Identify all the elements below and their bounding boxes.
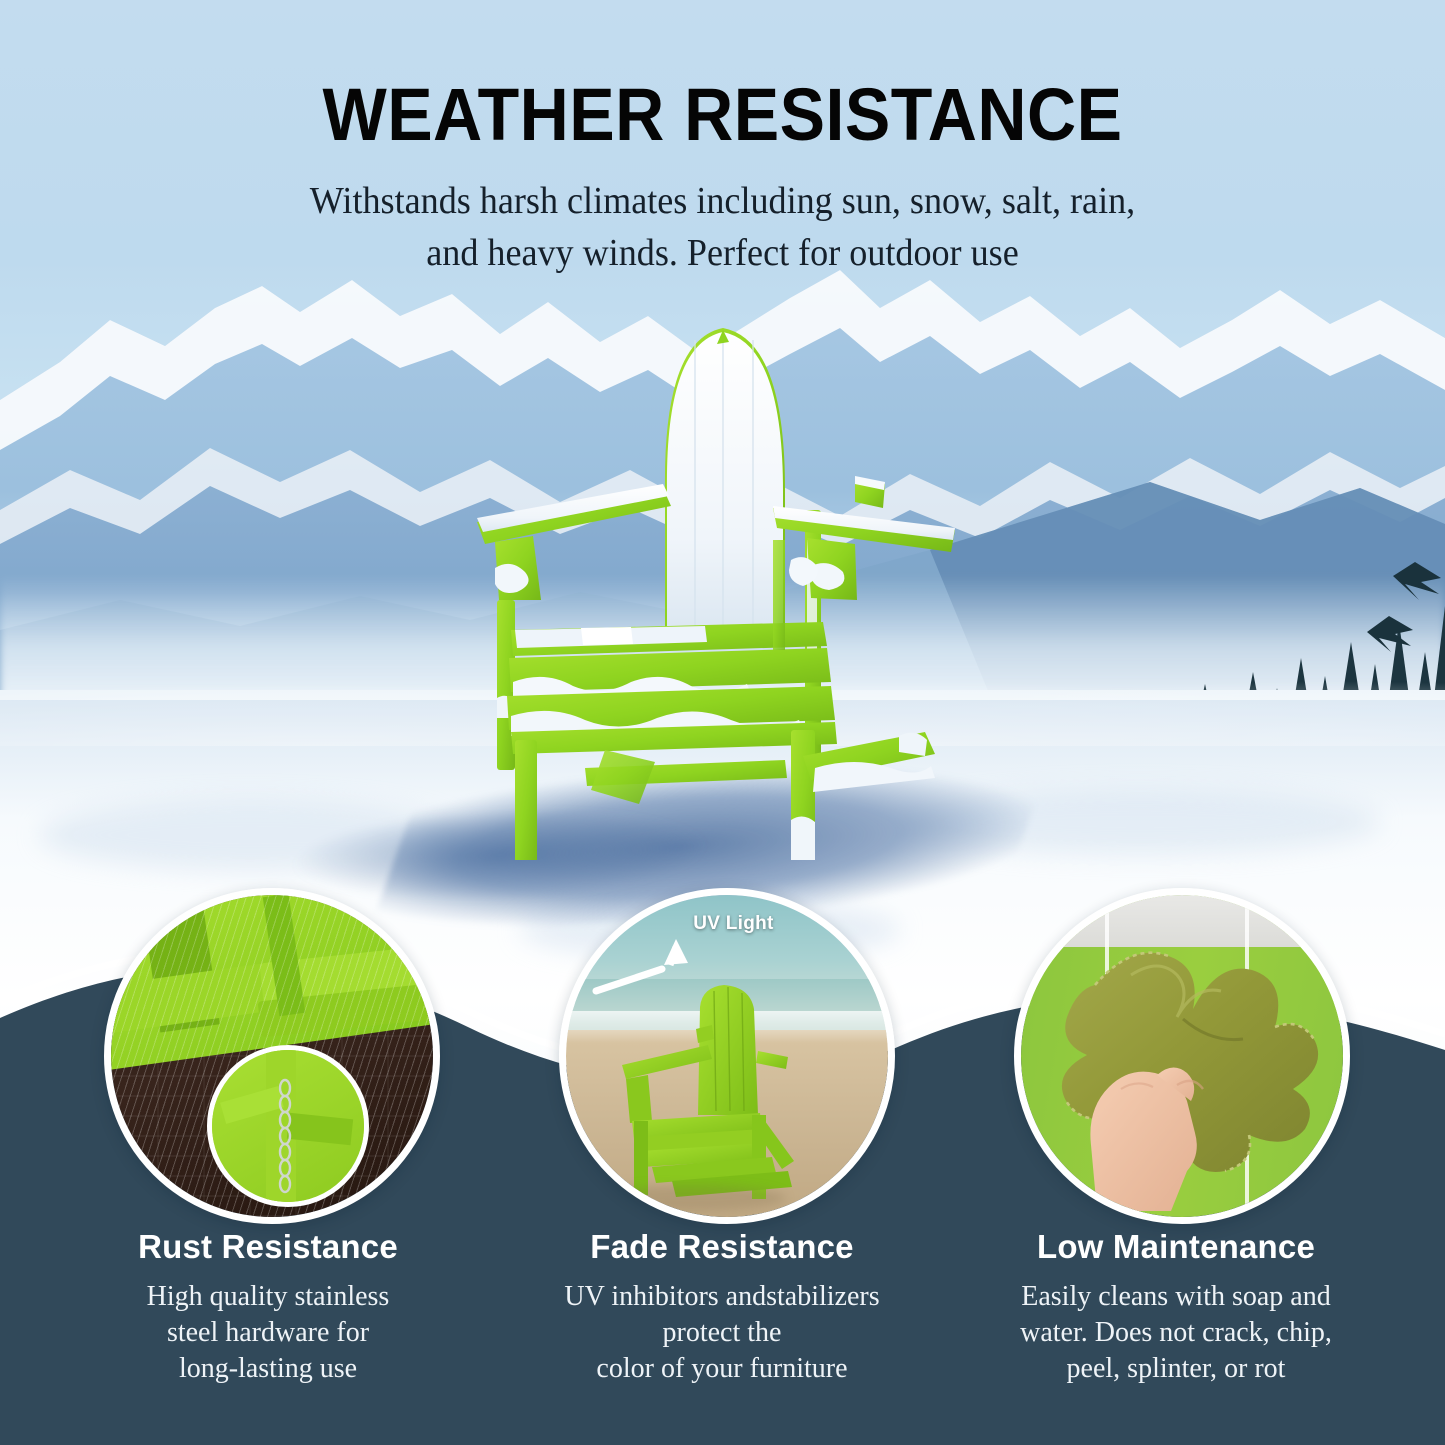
feature-desc-line: steel hardware for [58, 1315, 478, 1351]
feature-desc-line: protect the [512, 1315, 932, 1351]
feature-desc-line: Easily cleans with soap and [966, 1279, 1386, 1315]
hardware-chain-inset-image [207, 1045, 369, 1207]
feature-block-fade-resistance: Fade Resistance UV inhibitors andstabili… [512, 1228, 932, 1386]
page-subtitle: Withstands harsh climates including sun,… [0, 175, 1445, 280]
lime-beach-chair [612, 981, 842, 1211]
subtitle-line-1: Withstands harsh climates including sun,… [36, 175, 1409, 227]
feature-desc-line: water. Does not crack, chip, [966, 1315, 1386, 1351]
subtitle-line-2: and heavy winds. Perfect for outdoor use [36, 227, 1409, 279]
uv-light-label: UV Light [693, 913, 774, 935]
feature-description: High quality stainless steel hardware fo… [58, 1279, 478, 1386]
feature-desc-line: UV inhibitors andstabilizers [512, 1279, 932, 1315]
hand [1061, 1005, 1241, 1215]
weather-resistance-infographic: WEATHER RESISTANCE Withstands harsh clim… [0, 0, 1445, 1445]
feature-desc-line: High quality stainless [58, 1279, 478, 1315]
feature-desc-line: peel, splinter, or rot [966, 1351, 1386, 1387]
feature-block-low-maintenance: Low Maintenance Easily cleans with soap … [966, 1228, 1386, 1386]
feature-title: Fade Resistance [512, 1228, 932, 1266]
page-title: WEATHER RESISTANCE [58, 72, 1387, 157]
feature-title: Rust Resistance [58, 1228, 478, 1266]
snow-covered-adirondack-chair [455, 300, 995, 860]
feature-description: Easily cleans with soap and water. Does … [966, 1279, 1386, 1386]
feature-description: UV inhibitors andstabilizers protect the… [512, 1279, 932, 1386]
feature-image-fade-resistance: UV Light [559, 888, 895, 1224]
feature-image-low-maintenance [1014, 888, 1350, 1224]
feature-title: Low Maintenance [966, 1228, 1386, 1266]
feature-desc-line: long-lasting use [58, 1351, 478, 1387]
feature-desc-line: color of your furniture [512, 1351, 932, 1387]
feature-image-rust-resistance [104, 888, 440, 1224]
feature-block-rust-resistance: Rust Resistance High quality stainless s… [58, 1228, 478, 1386]
